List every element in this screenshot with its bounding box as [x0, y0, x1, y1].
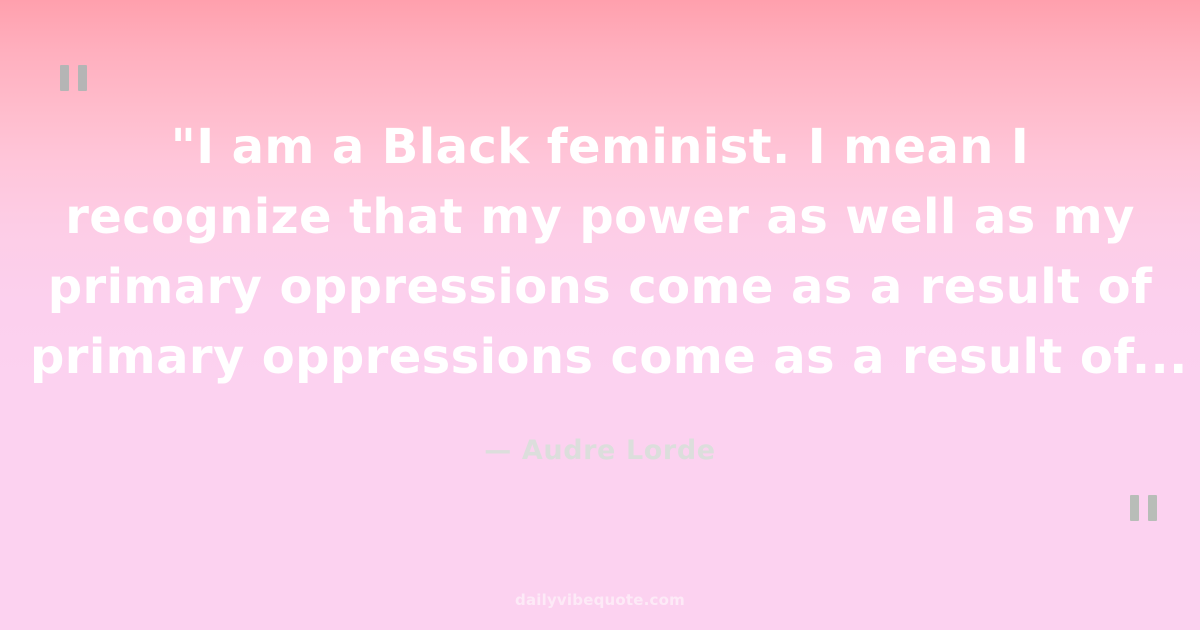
quote-line-3: primary oppressions come as a result of — [30, 252, 1170, 322]
close-quote-bar-left — [1130, 495, 1139, 521]
quote-card: "I am a Black feminist. I mean I recogni… — [0, 0, 1200, 630]
quote-line-4: primary oppressions come as a result of.… — [30, 322, 1170, 392]
close-quote-icon — [1130, 495, 1157, 521]
quote-line-2: recognize that my power as well as my — [30, 182, 1170, 252]
quote-attribution: — Audre Lorde — [0, 435, 1200, 466]
open-quote-icon — [60, 65, 87, 91]
footer-watermark: dailyvibequote.com — [0, 591, 1200, 609]
open-quote-bar-left — [60, 65, 69, 91]
close-quote-bar-right — [1148, 495, 1157, 521]
quote-line-1: "I am a Black feminist. I mean I — [30, 112, 1170, 182]
quote-text: "I am a Black feminist. I mean I recogni… — [0, 112, 1200, 392]
open-quote-bar-right — [78, 65, 87, 91]
